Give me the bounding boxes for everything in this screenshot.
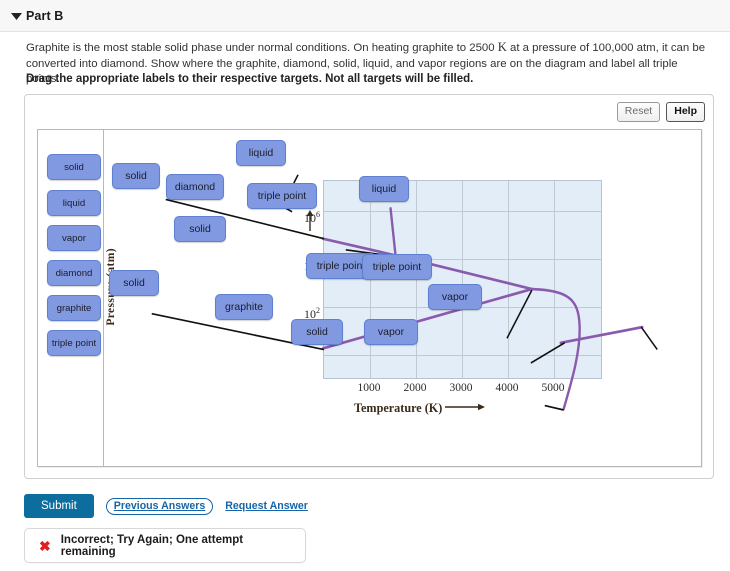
bank-chip-triple-point[interactable]: triple point <box>47 330 101 356</box>
phase-diagram: Pressure (atm) 106 104 102 <box>104 130 701 466</box>
leader-line-solid-bottom <box>545 406 564 410</box>
x-tick-label: 4000 <box>484 382 530 394</box>
diagram-chip-solid[interactable]: solid <box>109 270 159 296</box>
diagram-chip-liquid[interactable]: liquid <box>359 176 409 202</box>
x-tick-label: 5000 <box>530 382 576 394</box>
diagram-chip-solid[interactable]: solid <box>112 163 160 189</box>
action-row: Submit Previous Answers Request Answer <box>24 494 308 518</box>
x-tick-label: 3000 <box>438 382 484 394</box>
request-answer-link[interactable]: Request Answer <box>225 500 308 512</box>
feedback-text: Incorrect; Try Again; One attempt remain… <box>61 534 291 558</box>
reset-button[interactable]: Reset <box>617 102 660 122</box>
submit-button[interactable]: Submit <box>24 494 94 518</box>
page-title: Part B <box>26 9 63 23</box>
diagram-chip-liquid[interactable]: liquid <box>236 140 286 166</box>
bank-chip-graphite[interactable]: graphite <box>47 295 101 321</box>
diagram-chip-diamond[interactable]: diamond <box>166 174 224 200</box>
panel-tools: Reset Help <box>617 102 705 122</box>
leader-line-vapor-right <box>641 327 657 349</box>
question-text-part-1: Graphite is the most stable solid phase … <box>26 42 498 54</box>
help-button[interactable]: Help <box>666 102 705 122</box>
bank-chip-diamond[interactable]: diamond <box>47 260 101 286</box>
diagram-chip-solid[interactable]: solid <box>174 216 226 242</box>
answer-panel: Reset Help solidliquidvapordiamondgraphi… <box>24 94 714 479</box>
diagram-chip-graphite[interactable]: graphite <box>215 294 273 320</box>
kelvin-symbol: K <box>498 40 507 54</box>
diagram-chip-triple-point[interactable]: triple point <box>362 254 432 280</box>
drag-instruction: Drag the appropriate labels to their res… <box>26 73 708 85</box>
diagram-canvas: Pressure (atm) 106 104 102 <box>104 130 701 466</box>
label-bank: solidliquidvapordiamondgraphitetriple po… <box>38 130 104 466</box>
x-axis-label: Temperature (K) <box>354 401 485 416</box>
bank-chip-vapor[interactable]: vapor <box>47 225 101 251</box>
y-tick-label: 106 <box>280 210 320 226</box>
gridline-horizontal <box>324 211 601 212</box>
x-axis-arrow-icon <box>445 402 485 411</box>
x-mark-icon: ✖ <box>39 539 51 553</box>
bank-chip-liquid[interactable]: liquid <box>47 190 101 216</box>
feedback-banner: ✖ Incorrect; Try Again; One attempt rema… <box>24 528 306 563</box>
disclosure-triangle-down-icon[interactable] <box>0 12 26 20</box>
x-tick-label: 2000 <box>392 382 438 394</box>
gridline-horizontal <box>324 355 601 356</box>
diagram-chip-vapor[interactable]: vapor <box>364 319 418 345</box>
part-header: Part B <box>0 0 730 32</box>
x-tick-label: 1000 <box>346 382 392 394</box>
bank-chip-solid[interactable]: solid <box>47 154 101 180</box>
previous-answers-button[interactable]: Previous Answers <box>106 498 213 515</box>
diagram-chip-vapor[interactable]: vapor <box>428 284 482 310</box>
diagram-chip-solid[interactable]: solid <box>291 319 343 345</box>
diagram-chip-triple-point[interactable]: triple point <box>247 183 317 209</box>
drag-drop-workspace: solidliquidvapordiamondgraphitetriple po… <box>37 129 702 467</box>
